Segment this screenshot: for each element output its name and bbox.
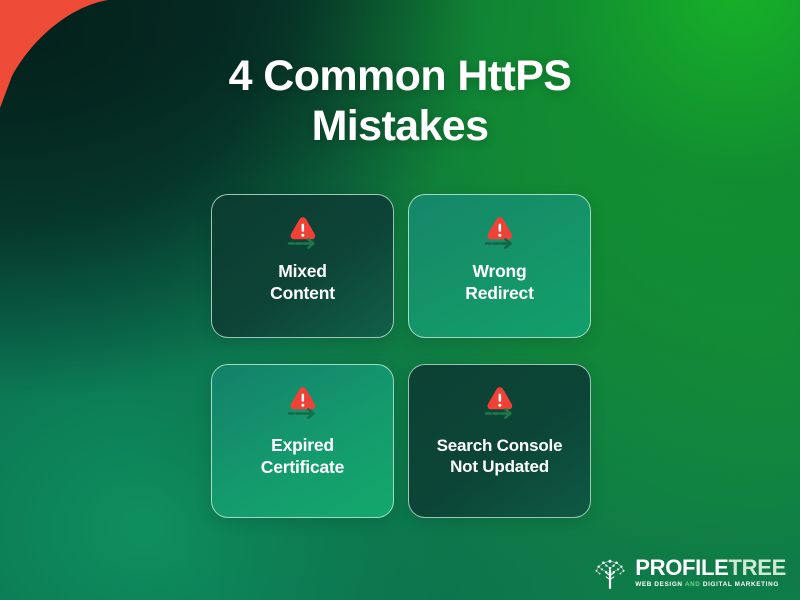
card-search-console-not-updated[interactable]: Search Console Not Updated (408, 364, 591, 518)
card-label: Search Console Not Updated (431, 435, 569, 478)
warning-triangle-redirect-icon (477, 212, 523, 252)
page-title: 4 Common HttPS Mistakes (0, 52, 800, 152)
logo-tagline-part-2: AND (685, 581, 701, 588)
logo-tagline-part-3: DIGITAL MARKETING (701, 581, 779, 588)
card-mixed-content[interactable]: Mixed Content (211, 194, 394, 338)
warning-triangle-redirect-icon (477, 382, 523, 422)
logo-wordmark: PROFILETREE (635, 557, 786, 579)
card-label: Expired Certificate (255, 435, 350, 479)
page-title-line-2: Mistakes (0, 102, 800, 152)
logo-text: PROFILETREE WEB DESIGN AND DIGITAL MARKE… (635, 557, 786, 588)
card-wrong-redirect[interactable]: Wrong Redirect (408, 194, 591, 338)
warning-triangle-redirect-icon (280, 382, 326, 422)
card-label-line-1: Expired (271, 435, 334, 455)
mistakes-card-grid: Mixed Content Wrong Redirect (211, 194, 591, 518)
card-label-line-2: Redirect (465, 283, 533, 303)
logo-word-profile: PROFILE (635, 555, 728, 580)
card-label: Wrong Redirect (459, 261, 539, 305)
card-expired-certificate[interactable]: Expired Certificate (211, 364, 394, 518)
slide-canvas: 4 Common HttPS Mistakes Mixed Content (0, 0, 800, 600)
warning-triangle-redirect-icon (280, 212, 326, 252)
card-label-line-2: Certificate (261, 457, 344, 477)
card-label-line-1: Wrong (472, 261, 526, 281)
logo-tagline-part-1: WEB DESIGN (635, 581, 685, 588)
card-label-line-2: Content (270, 283, 335, 303)
card-label-line-1: Mixed (278, 261, 327, 281)
card-label-line-1: Search Console (437, 436, 563, 455)
page-title-line-1: 4 Common HttPS (0, 52, 800, 102)
card-label: Mixed Content (264, 261, 341, 305)
logo-tagline: WEB DESIGN AND DIGITAL MARKETING (635, 582, 786, 588)
tree-icon (591, 556, 629, 590)
logo-word-tree: TREE (729, 555, 786, 580)
profiletree-logo[interactable]: PROFILETREE WEB DESIGN AND DIGITAL MARKE… (591, 556, 786, 590)
card-label-line-2: Not Updated (450, 457, 549, 476)
